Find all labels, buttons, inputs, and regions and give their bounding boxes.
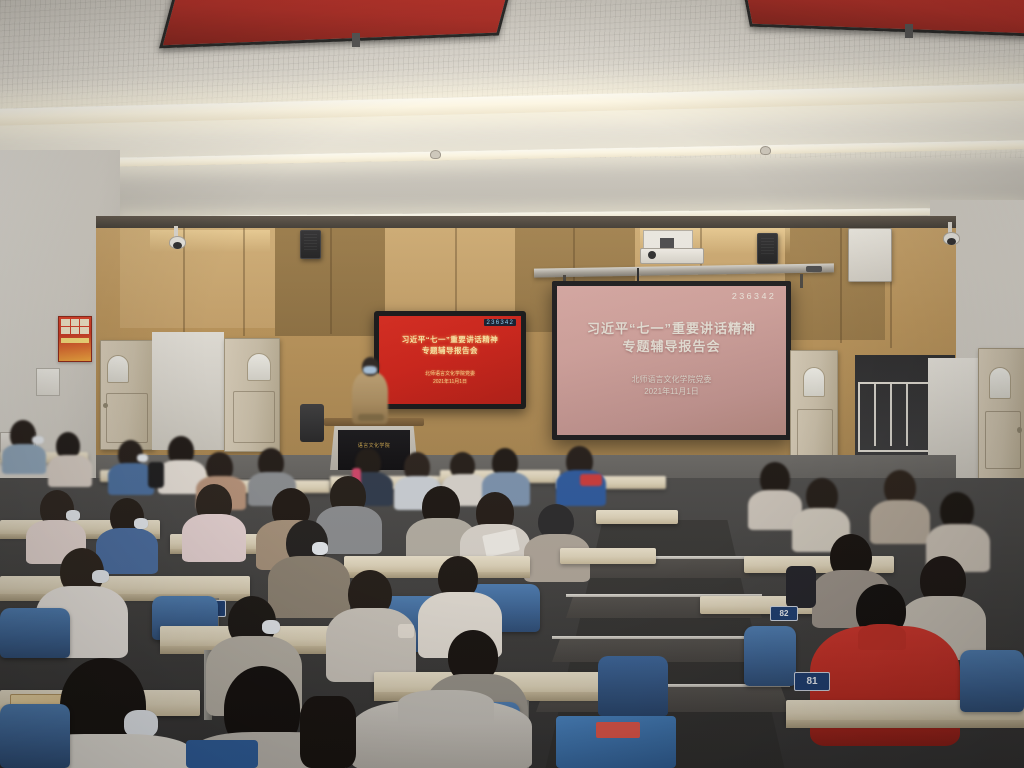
door-window bbox=[989, 367, 1011, 399]
speaker-mask bbox=[363, 366, 377, 374]
student-hand bbox=[398, 624, 414, 638]
panel-seam bbox=[455, 225, 457, 325]
poster-cell bbox=[61, 319, 70, 326]
book bbox=[186, 740, 258, 768]
door-knob-icon[interactable] bbox=[103, 403, 108, 408]
seat-tag: 82 bbox=[770, 606, 798, 621]
chair[interactable] bbox=[0, 608, 70, 658]
student-body bbox=[870, 500, 930, 544]
hoodie-hood bbox=[398, 690, 494, 724]
poster-cell bbox=[61, 327, 70, 334]
student-body bbox=[48, 455, 92, 487]
side-chair-stage bbox=[300, 404, 324, 442]
desk bbox=[596, 510, 678, 524]
student-body bbox=[96, 528, 158, 574]
door-knob-icon[interactable] bbox=[1017, 427, 1022, 433]
panel-seam bbox=[243, 228, 245, 336]
seat-tag: 81 bbox=[794, 672, 830, 691]
panel-seam bbox=[330, 226, 332, 334]
face-mask bbox=[262, 620, 280, 634]
door-panel bbox=[985, 411, 1021, 469]
face-mask bbox=[137, 454, 148, 462]
speaker-hands bbox=[358, 414, 384, 421]
jacket-accent bbox=[580, 474, 602, 486]
door-right-1[interactable] bbox=[978, 348, 1024, 482]
screen-title-line2: 专题辅导报告会 bbox=[557, 338, 786, 355]
led-subtitle-line1: 北师语言文化学院党委 bbox=[379, 371, 521, 378]
screen-title-line1: 习近平“七一”重要讲话精神 bbox=[557, 320, 786, 337]
chair[interactable] bbox=[960, 650, 1024, 712]
desk bbox=[560, 548, 656, 564]
student-body bbox=[2, 444, 46, 474]
student-hair bbox=[300, 696, 356, 768]
window-bar bbox=[890, 384, 892, 446]
rail-motor-box bbox=[806, 266, 822, 272]
screen-corner-id: 236342 bbox=[732, 292, 776, 302]
ceiling-panel-mount-right bbox=[905, 24, 913, 38]
face-mask bbox=[32, 436, 44, 444]
door-window bbox=[107, 355, 129, 383]
poster-band bbox=[61, 338, 89, 343]
panel-seam bbox=[840, 228, 842, 343]
chair[interactable] bbox=[598, 656, 668, 716]
chair[interactable] bbox=[744, 626, 796, 686]
student-body bbox=[268, 556, 350, 618]
wall-control-cabinet[interactable] bbox=[848, 228, 892, 282]
chair[interactable] bbox=[0, 704, 70, 768]
handbag bbox=[148, 462, 164, 488]
sprinkler-icon bbox=[760, 146, 771, 155]
poster-cell bbox=[71, 319, 80, 326]
led-subtitle-line2: 2021年11月1日 bbox=[379, 379, 521, 386]
lecture-hall-photo: 236342 习近平“七一”重要讲话精神 专题辅导报告会 北师语言文化学院党委 … bbox=[0, 0, 1024, 768]
ceiling-panel-mount-left bbox=[352, 33, 360, 47]
led-title-line2: 专题辅导报告会 bbox=[379, 346, 521, 356]
projector-arm bbox=[660, 238, 674, 248]
wall-top-trim bbox=[96, 216, 956, 228]
face-mask bbox=[92, 570, 109, 583]
wall-speaker-left bbox=[300, 230, 321, 259]
projector-lens-icon bbox=[648, 251, 656, 259]
wood-panel bbox=[385, 224, 515, 322]
window-bar bbox=[874, 384, 876, 446]
window-bar bbox=[906, 384, 908, 446]
led-display-surface[interactable]: 236342 习近平“七一”重要讲话精神 专题辅导报告会 北师语言文化学院党委 … bbox=[379, 316, 521, 404]
door-window bbox=[803, 367, 825, 397]
step-nosing bbox=[552, 636, 776, 639]
dome-camera-icon bbox=[943, 232, 960, 245]
door-window bbox=[247, 353, 271, 381]
door-left-1[interactable] bbox=[100, 340, 154, 450]
door-recess-left bbox=[152, 332, 224, 450]
screen-subtitle-line1: 北师语言文化学院党委 bbox=[557, 374, 786, 386]
poster-cell bbox=[80, 319, 89, 326]
student-body bbox=[182, 514, 246, 562]
screen-subtitle-line2: 2021年11月1日 bbox=[557, 386, 786, 398]
led-title-line1: 习近平“七一”重要讲话精神 bbox=[379, 335, 521, 345]
door-panel bbox=[233, 391, 275, 443]
book-accent bbox=[596, 722, 640, 738]
poster-cell bbox=[71, 327, 80, 334]
poster-cell bbox=[80, 327, 89, 334]
student-body bbox=[326, 608, 416, 682]
face-mask bbox=[312, 542, 328, 555]
door-panel bbox=[106, 393, 148, 443]
desk-edge bbox=[786, 720, 1024, 728]
wall-speaker-right bbox=[757, 233, 778, 264]
wall-light-wash bbox=[150, 230, 270, 252]
wall-poster bbox=[58, 316, 92, 362]
desk-item bbox=[178, 542, 200, 548]
led-corner-id: 236342 bbox=[484, 319, 516, 326]
notice-sheet bbox=[36, 368, 60, 396]
projection-screen-surface[interactable]: 236342 习近平“七一”重要讲话精神 专题辅导报告会 北师语言文化学院党委 … bbox=[557, 286, 786, 435]
sprinkler-icon bbox=[430, 150, 441, 159]
door-left-2[interactable] bbox=[224, 338, 280, 452]
hoodie-hood bbox=[858, 624, 906, 650]
face-mask bbox=[66, 510, 80, 521]
window-railing-frame bbox=[858, 382, 934, 452]
dome-camera-icon bbox=[169, 236, 186, 249]
face-mask bbox=[134, 518, 148, 529]
backpack bbox=[786, 566, 816, 608]
poster-thumb-grid bbox=[59, 317, 91, 336]
screen-drop-right bbox=[800, 274, 803, 288]
